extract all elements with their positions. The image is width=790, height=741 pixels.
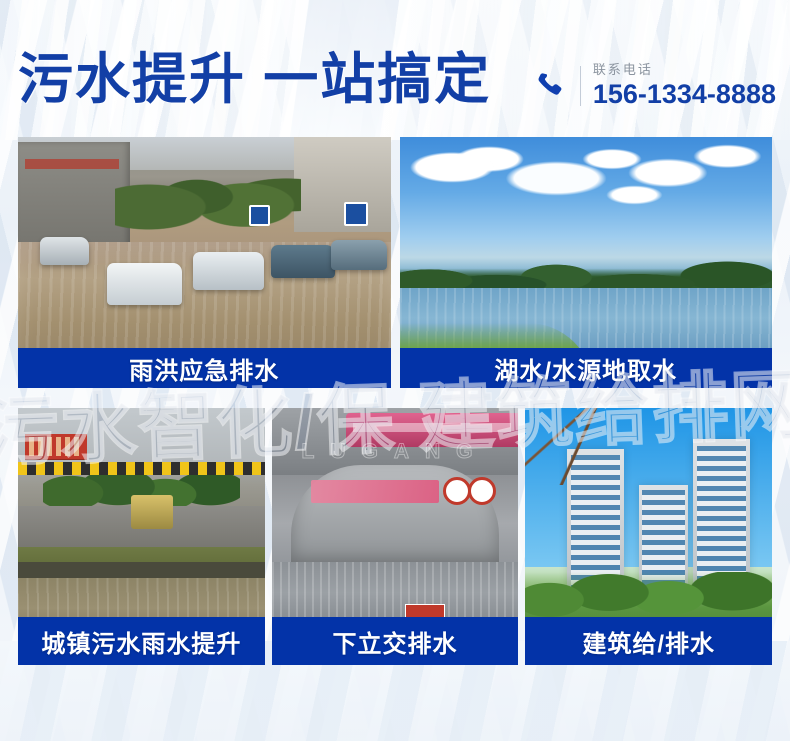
photo-car	[193, 252, 264, 290]
photo-warning-banner	[311, 480, 439, 503]
contact-divider	[580, 66, 581, 106]
photo-car	[40, 237, 88, 265]
photo-truck	[131, 495, 173, 528]
gallery-card-underpass-drainage[interactable]: 下立交排水	[272, 408, 519, 665]
gallery-caption: 湖水/水源地取水	[400, 348, 773, 388]
gallery-card-building-plumbing[interactable]: 建筑给/排水	[525, 408, 772, 665]
contact-block: 联系电话 156-1334-8888	[534, 63, 776, 108]
photo-building-right	[294, 137, 391, 232]
page-title: 污水提升 一站搞定	[18, 48, 491, 110]
gallery-card-municipal-sewage[interactable]: 城镇污水雨水提升	[18, 408, 265, 665]
contact-text: 联系电话 156-1334-8888	[593, 63, 776, 108]
photo-road-sign	[249, 205, 270, 226]
phone-icon	[534, 69, 568, 103]
gallery-caption: 雨洪应急排水	[18, 348, 391, 388]
gallery-top-row: 雨洪应急排水 湖水/水源地取水	[18, 137, 772, 388]
gallery-card-lake-intake[interactable]: 湖水/水源地取水	[400, 137, 773, 388]
contact-label: 联系电话	[593, 63, 776, 76]
photo-gantry-barrier	[18, 462, 265, 475]
photo-road-sign	[344, 202, 368, 226]
gallery-caption: 下立交排水	[272, 617, 519, 665]
contact-phone-number[interactable]: 156-1334-8888	[593, 81, 776, 108]
photo-building-left	[18, 142, 130, 247]
photo-car	[107, 263, 182, 306]
header: 污水提升 一站搞定 联系电话 156-1334-8888	[0, 0, 790, 133]
gallery-caption: 城镇污水雨水提升	[18, 617, 265, 665]
poster-page: 污水提升 一站搞定 联系电话 156-1334-8888	[0, 0, 790, 741]
photo-train	[346, 413, 519, 446]
photo-car	[331, 240, 387, 270]
gallery-card-flood-emergency[interactable]: 雨洪应急排水	[18, 137, 391, 388]
gallery-caption: 建筑给/排水	[525, 617, 772, 665]
gallery-bottom-row: 城镇污水雨水提升 下立交排水	[18, 408, 772, 665]
photo-canal-wall	[18, 562, 265, 577]
photo-trees	[115, 147, 301, 247]
photo-car	[271, 245, 334, 278]
photo-branch	[525, 408, 638, 485]
photo-treeline	[400, 252, 773, 292]
photo-speed-sign	[468, 477, 496, 505]
